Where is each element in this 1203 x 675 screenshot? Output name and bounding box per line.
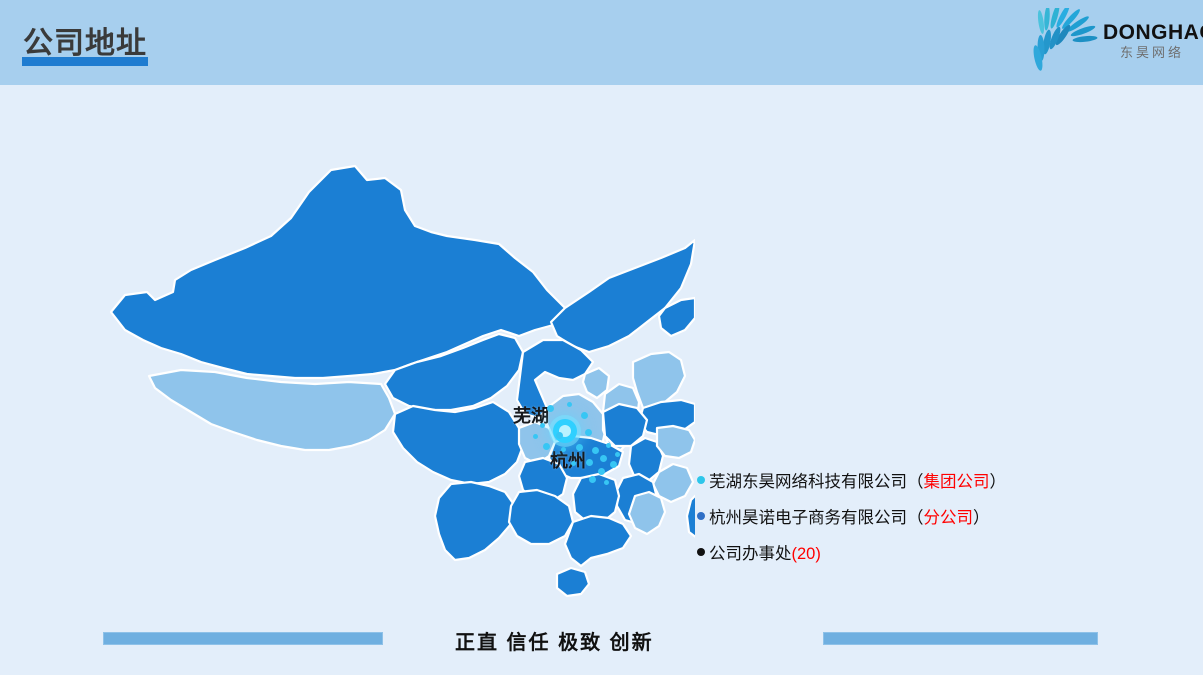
china-map: [95, 140, 695, 600]
footer-bar-left: [103, 632, 383, 645]
brand-logo-text: DONGHAO 东昊网络: [1103, 22, 1201, 62]
brand-name-en: DONGHAO: [1103, 22, 1201, 44]
map-marker-office[interactable]: [581, 412, 588, 419]
province-guangdong: [565, 516, 631, 566]
map-marker-office[interactable]: [533, 434, 538, 439]
legend-item-label: 杭州昊诺电子商务有限公司（分公司）: [709, 504, 990, 528]
map-marker-office[interactable]: [604, 480, 609, 485]
map-marker-wuhu-hq[interactable]: [553, 419, 577, 443]
footer-slogan: 正直 信任 极致 创新: [455, 626, 745, 655]
brand-name-cn: 东昊网络: [1103, 44, 1201, 62]
province-guangxi: [509, 490, 573, 544]
legend-bullet-icon: [697, 512, 705, 520]
map-marker-office[interactable]: [561, 447, 566, 452]
map-marker-office[interactable]: [547, 405, 554, 412]
map-marker-office[interactable]: [610, 461, 617, 468]
page-title: 公司地址: [23, 18, 147, 62]
footer-bar-right: [823, 632, 1098, 645]
map-marker-office[interactable]: [598, 468, 605, 475]
map-marker-office[interactable]: [576, 444, 583, 451]
legend-item[interactable]: 芜湖东昊网络科技有限公司（集团公司）: [697, 462, 1027, 498]
map-marker-office[interactable]: [585, 429, 592, 436]
china-map-svg: [95, 140, 695, 600]
map-marker-office[interactable]: [615, 452, 620, 457]
province-fujian: [629, 492, 665, 534]
province-jiangsu: [657, 426, 695, 458]
feather-fan-icon: [1033, 8, 1101, 74]
province-taiwan: [687, 492, 695, 538]
map-marker-office[interactable]: [571, 461, 576, 466]
legend-item[interactable]: 公司办事处(20): [697, 534, 1027, 570]
map-label-hangzhou: 杭州: [550, 447, 586, 473]
legend-bullet-icon: [697, 476, 705, 484]
legend-item-label: 公司办事处(20): [709, 540, 821, 564]
legend-item-label: 芜湖东昊网络科技有限公司（集团公司）: [709, 468, 1006, 492]
title-underline: [22, 57, 148, 66]
map-marker-office[interactable]: [592, 447, 599, 454]
province-sichuan: [393, 402, 523, 484]
map-marker-office[interactable]: [567, 402, 572, 407]
map-marker-office[interactable]: [600, 455, 607, 462]
legend-item[interactable]: 杭州昊诺电子商务有限公司（分公司）: [697, 498, 1027, 534]
province-hainan: [557, 568, 589, 596]
slide-header: 公司地址: [0, 0, 1203, 85]
map-marker-office[interactable]: [586, 459, 593, 466]
map-marker-office[interactable]: [606, 443, 611, 448]
province-tibet: [149, 370, 395, 450]
map-marker-office[interactable]: [540, 423, 545, 428]
map-marker-office[interactable]: [589, 476, 596, 483]
map-marker-office[interactable]: [556, 432, 563, 439]
legend: 芜湖东昊网络科技有限公司（集团公司） 杭州昊诺电子商务有限公司（分公司） 公司办…: [697, 462, 1027, 570]
legend-bullet-icon: [697, 548, 705, 556]
province-yunnan: [435, 482, 515, 560]
brand-logo: DONGHAO 东昊网络: [1033, 6, 1201, 78]
map-marker-office[interactable]: [543, 443, 550, 450]
province-hunan: [573, 474, 619, 522]
